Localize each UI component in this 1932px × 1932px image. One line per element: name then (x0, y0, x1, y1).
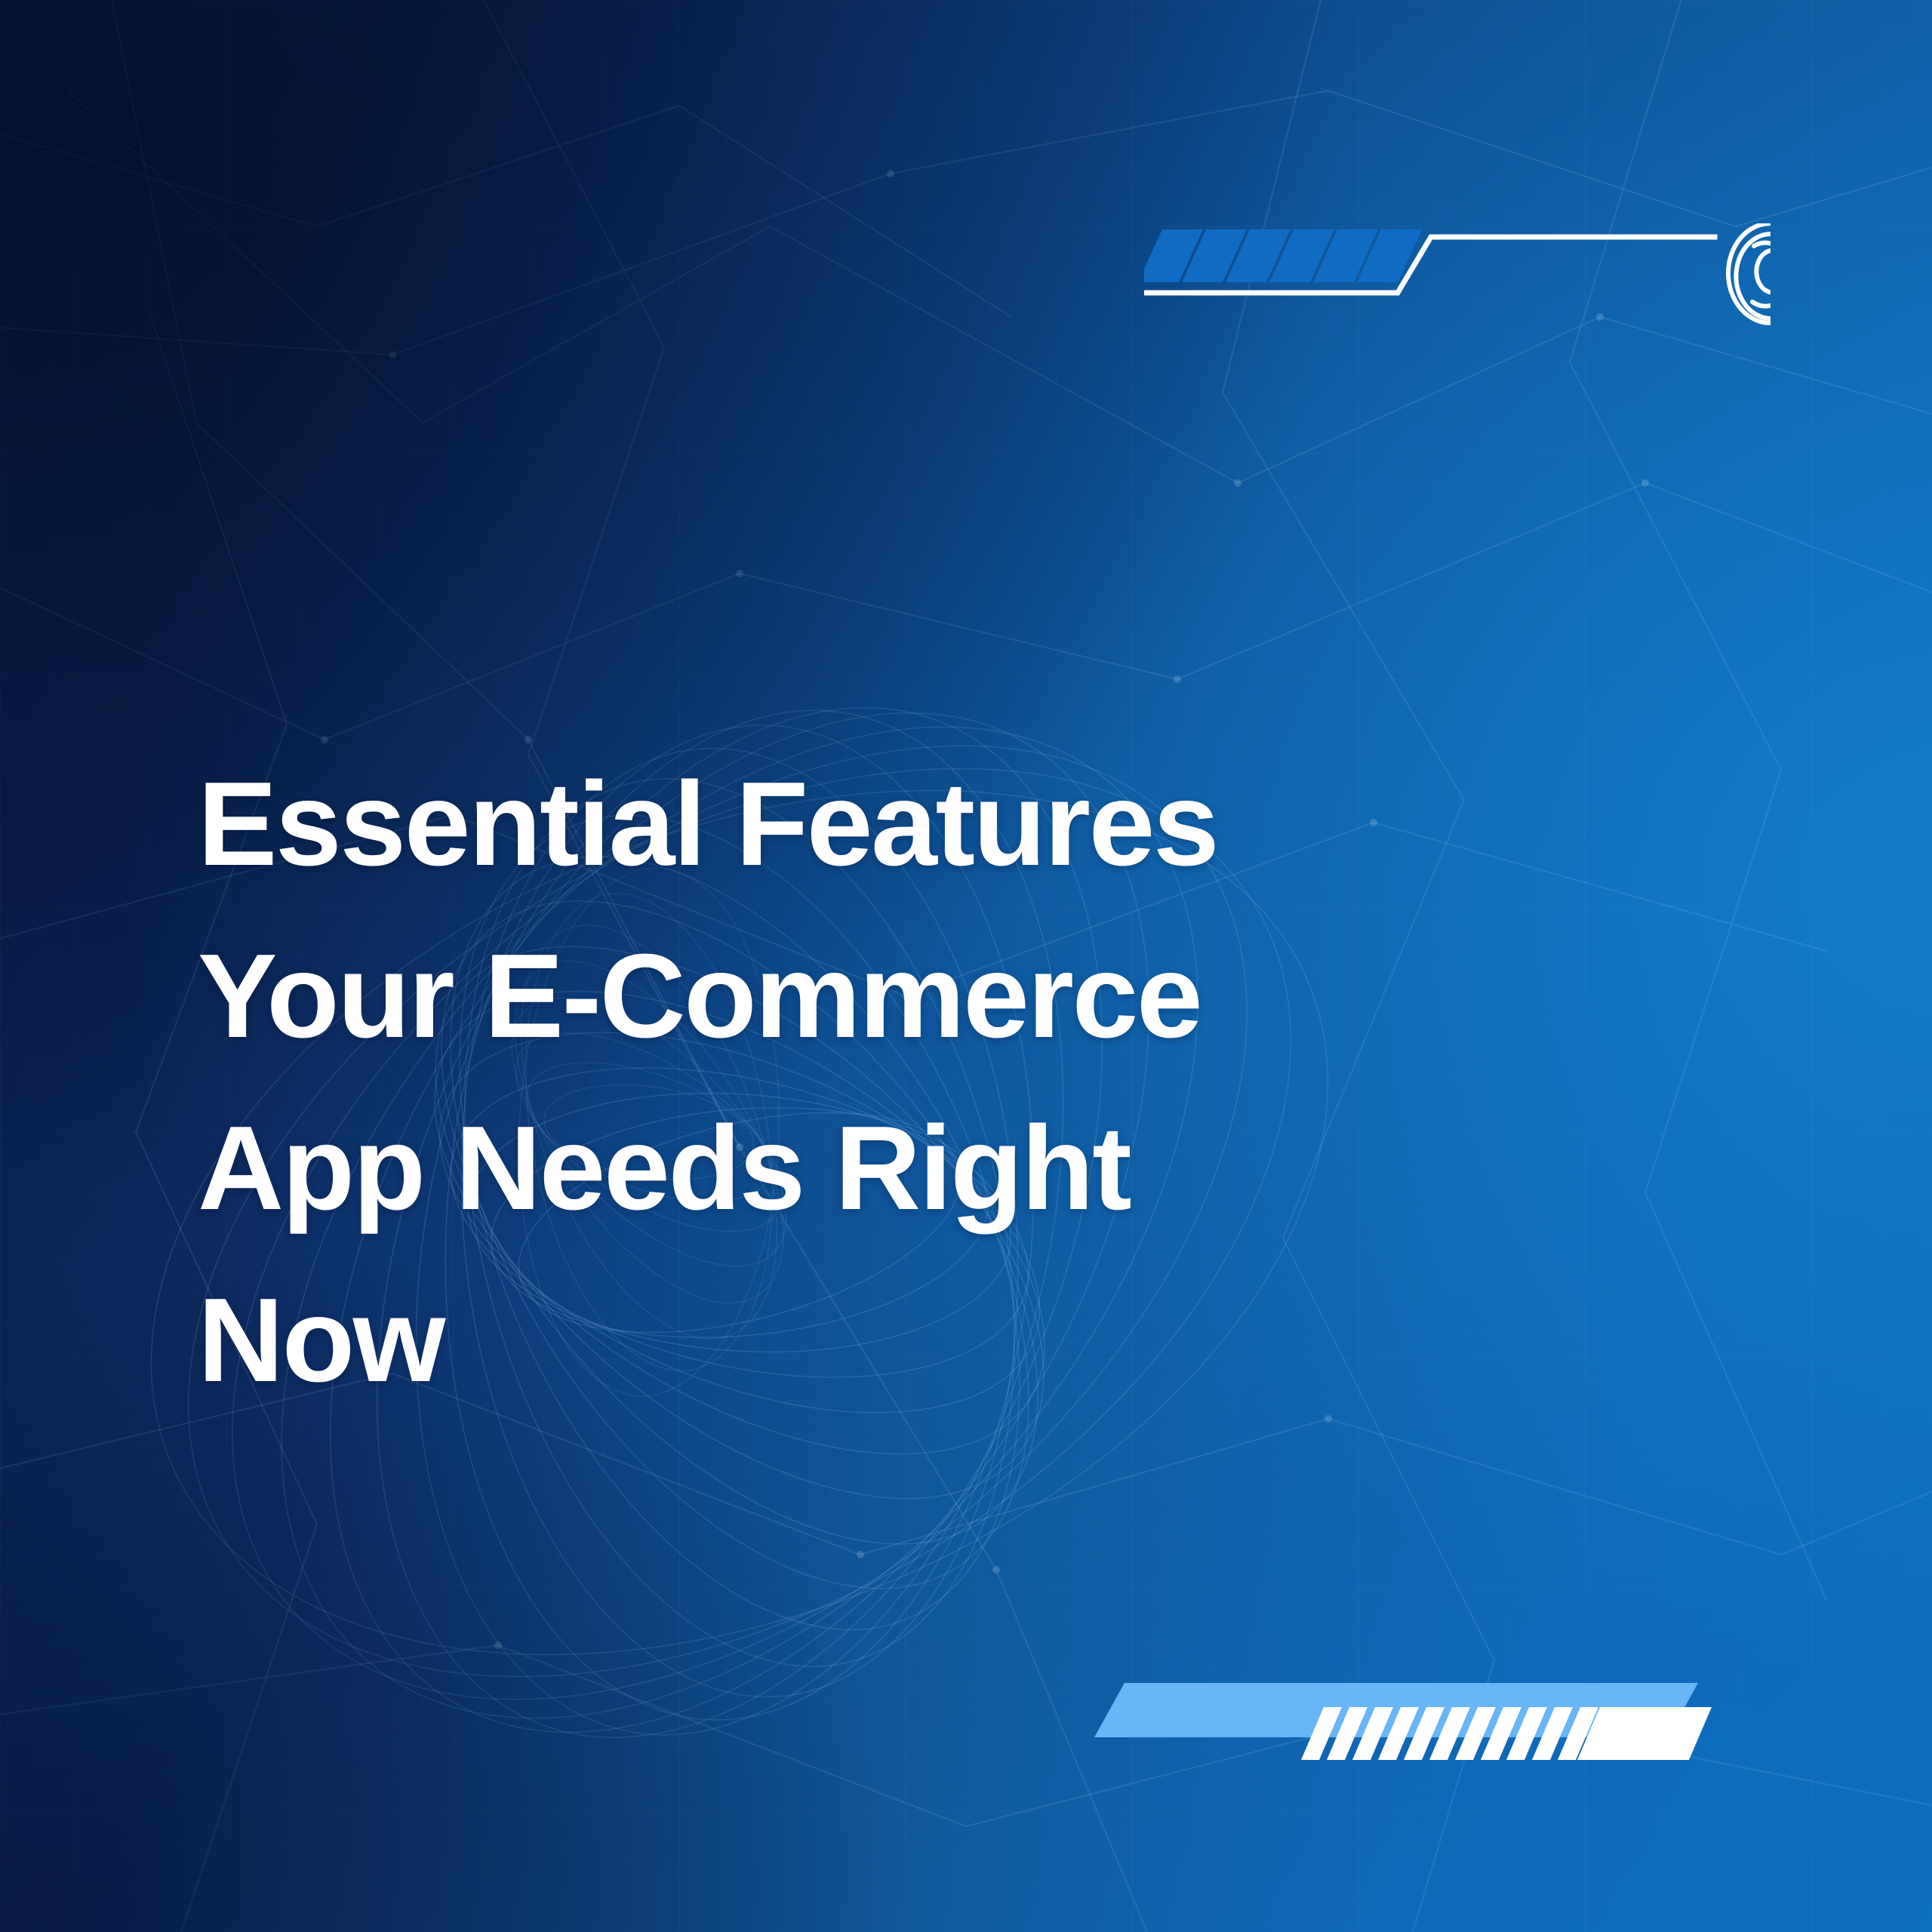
hud-striped-bar (1144, 229, 1422, 282)
hud-bottom-right-decoration (1079, 1668, 1713, 1811)
hud-white-block (1577, 1707, 1712, 1760)
concentric-arc-circle-icon (1728, 223, 1770, 323)
hud-top-right-decoration (1144, 223, 1770, 374)
page-title: Essential Features Your E-Commerce App N… (198, 738, 1692, 1426)
poster-canvas: Essential Features Your E-Commerce App N… (0, 0, 1932, 1932)
